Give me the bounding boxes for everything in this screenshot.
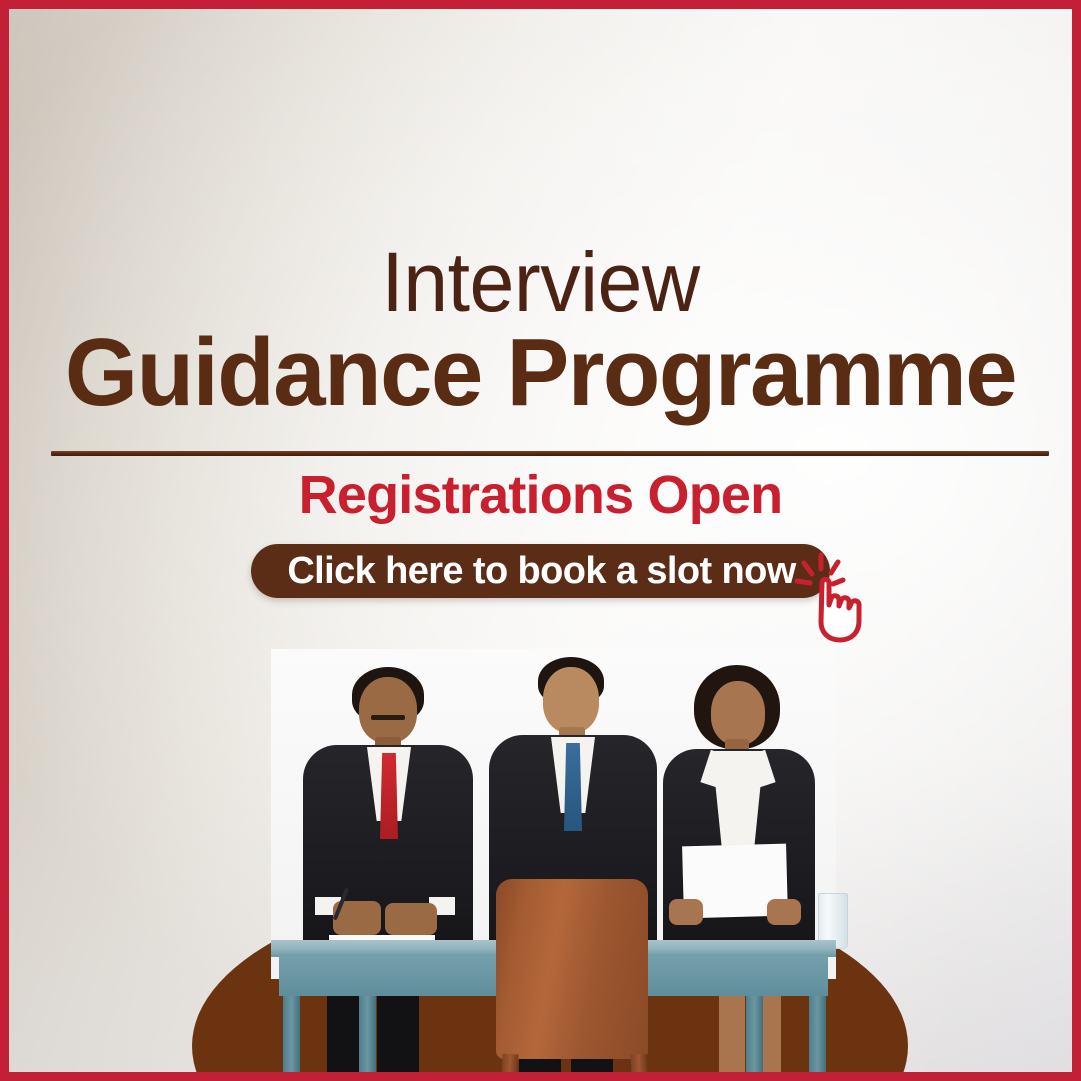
chair-leg bbox=[499, 1054, 518, 1072]
page-title-line-2: Guidance Programme bbox=[20, 325, 1062, 421]
book-slot-button[interactable]: Click here to book a slot now bbox=[251, 544, 829, 598]
desk-leg bbox=[359, 996, 376, 1072]
headline-block: Interview Guidance Programme bbox=[9, 241, 1072, 421]
title-divider-rule bbox=[51, 451, 1049, 456]
cta-row: Click here to book a slot now bbox=[9, 543, 1072, 599]
desk-leg bbox=[283, 996, 300, 1072]
desk-leg bbox=[809, 996, 826, 1072]
poster-canvas: Interview Guidance Programme Registratio… bbox=[0, 0, 1081, 1081]
chair-leg bbox=[630, 1054, 649, 1072]
page-title-line-1: Interview bbox=[30, 241, 1050, 323]
poster-content-area: Interview Guidance Programme Registratio… bbox=[9, 9, 1072, 1072]
interview-panel-photo bbox=[189, 649, 909, 1072]
subtitle-registrations-open: Registrations Open bbox=[9, 464, 1072, 526]
desk-leg bbox=[746, 996, 763, 1072]
candidate-chair bbox=[496, 879, 648, 1059]
